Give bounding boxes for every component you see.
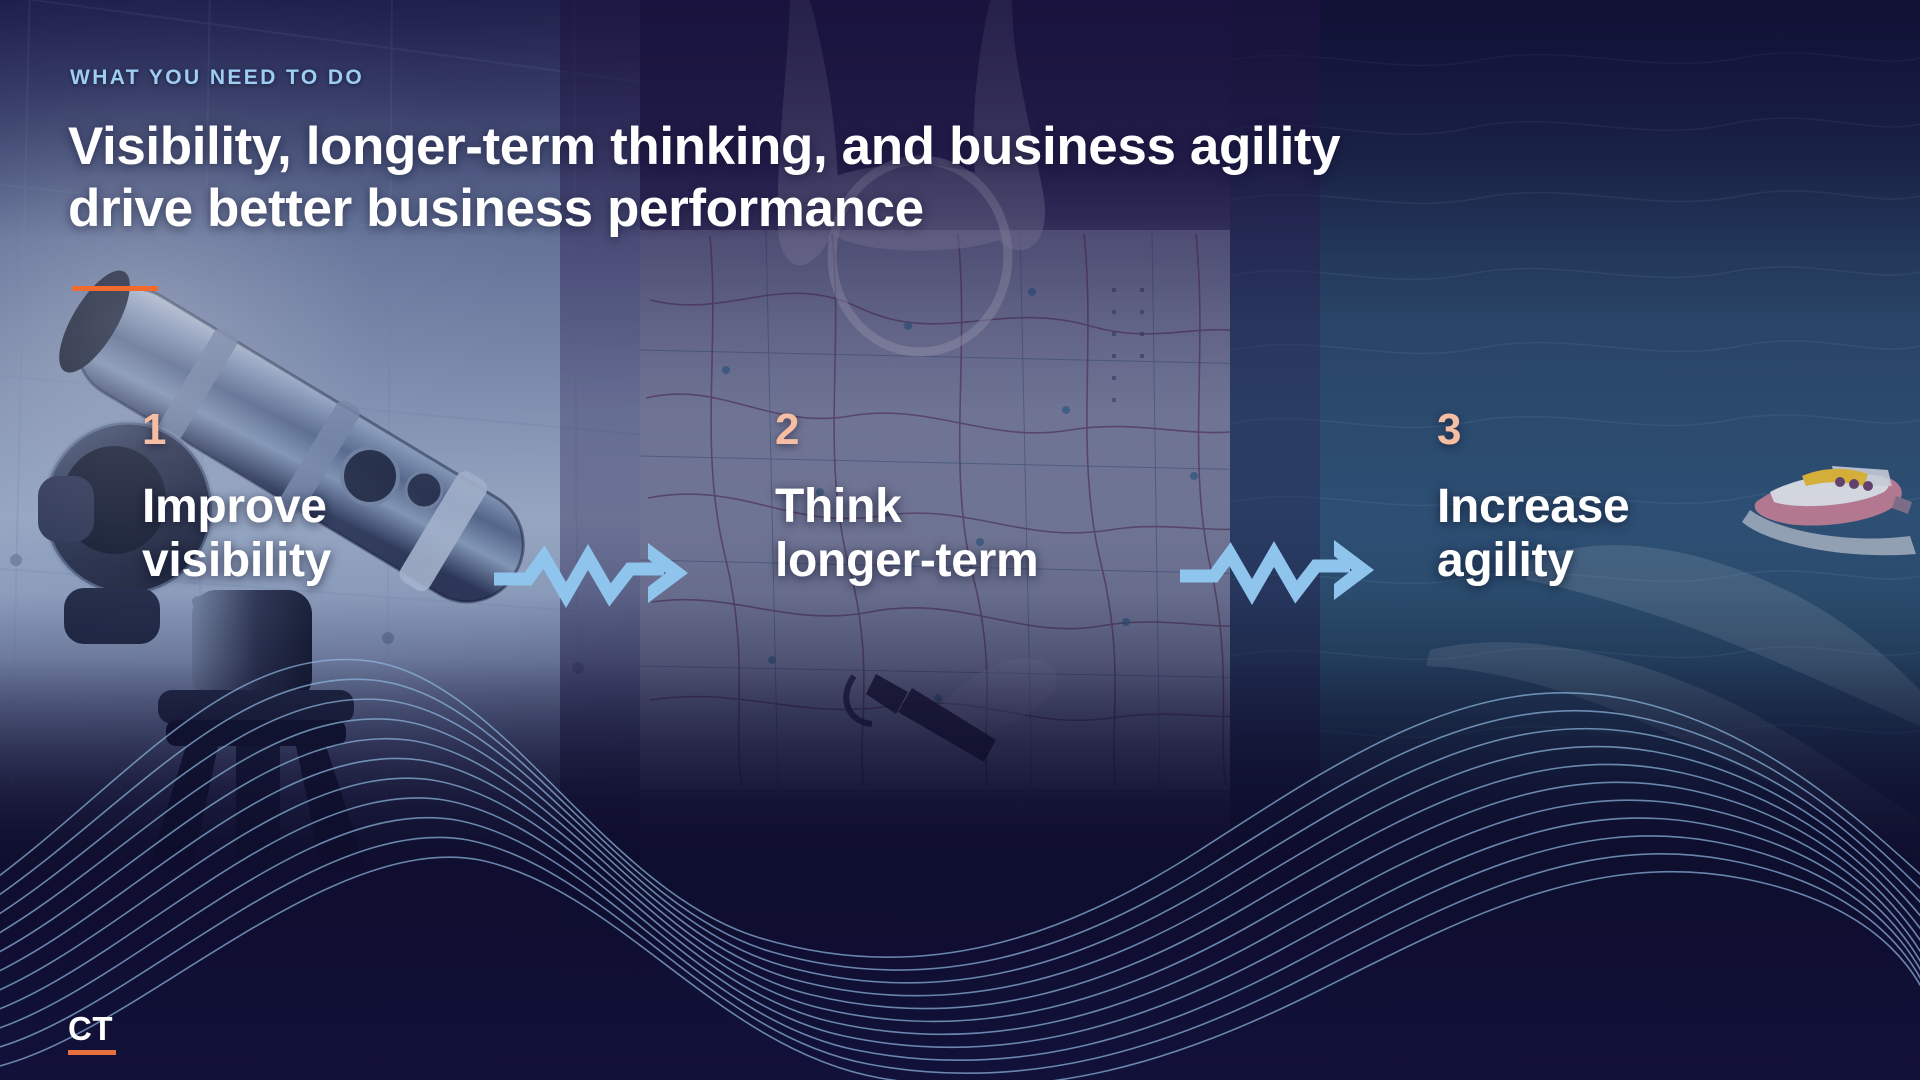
step-1-label: Improve visibility bbox=[142, 480, 331, 588]
slide-canvas: WHAT YOU NEED TO DO Visibility, longer-t… bbox=[0, 0, 1920, 1080]
step-2-number: 2 bbox=[775, 408, 1038, 452]
headline-line-2: drive better business performance bbox=[68, 178, 1568, 240]
logo: CT bbox=[68, 1012, 116, 1055]
zigzag-arrow-1-icon bbox=[492, 535, 697, 615]
step-item-3: 3 Increase agility bbox=[1437, 408, 1629, 588]
eyebrow-label: WHAT YOU NEED TO DO bbox=[70, 66, 364, 90]
headline-line-1: Visibility, longer-term thinking, and bu… bbox=[68, 117, 1340, 176]
step-3-label: Increase agility bbox=[1437, 480, 1629, 588]
logo-accent-bar bbox=[68, 1050, 116, 1055]
step-2-label: Think longer-term bbox=[775, 480, 1038, 588]
step-item-1: 1 Improve visibility bbox=[142, 408, 331, 588]
sine-wave-decoration-icon bbox=[0, 640, 1920, 1080]
step-3-number: 3 bbox=[1437, 408, 1629, 452]
zigzag-arrow-2-icon bbox=[1178, 532, 1383, 612]
step-1-number: 1 bbox=[142, 408, 331, 452]
page-title: Visibility, longer-term thinking, and bu… bbox=[68, 116, 1568, 240]
logo-wordmark: CT bbox=[68, 1012, 116, 1045]
accent-rule bbox=[72, 286, 158, 291]
step-item-2: 2 Think longer-term bbox=[775, 408, 1038, 588]
